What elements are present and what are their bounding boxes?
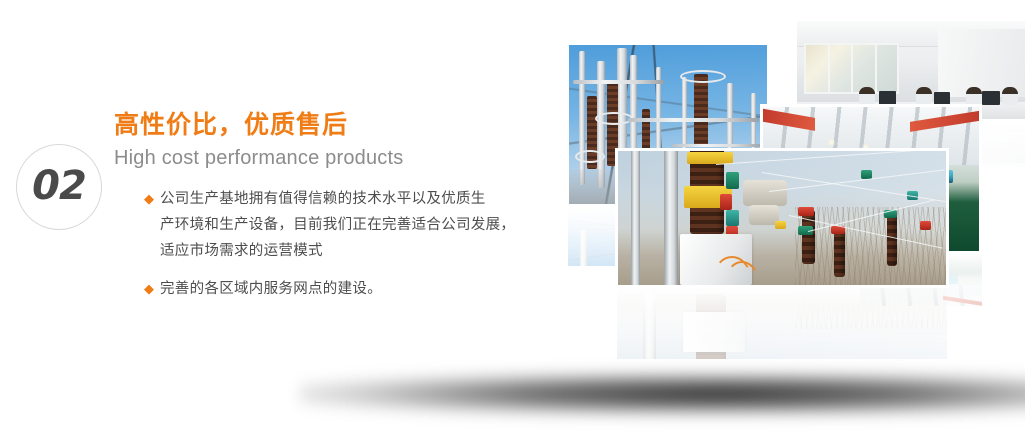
step-number-badge: 02 bbox=[16, 144, 102, 230]
bullet-item-text: 完善的各区域内服务网点的建设。 bbox=[160, 276, 382, 302]
photo-office-reflection bbox=[796, 121, 1025, 167]
photo-switchgear-closeup bbox=[615, 148, 949, 288]
photo-substation-reflection bbox=[568, 206, 768, 266]
photo-workshop bbox=[760, 104, 982, 254]
step-number-text: 02 bbox=[32, 166, 86, 206]
bullet-line: 适应市场需求的运营模式 bbox=[160, 243, 323, 259]
page-title-chinese: 高性价比，优质售后 bbox=[114, 112, 348, 140]
photo-office bbox=[794, 18, 1025, 122]
bullet-line: 公司生产基地拥有值得信赖的技术水平以及优质生 bbox=[160, 191, 486, 207]
bullet-item: ◆ 完善的各区域内服务网点的建设。 bbox=[144, 276, 564, 302]
photo-switchgear-reflection bbox=[617, 287, 947, 359]
bullet-item: ◆ 公司生产基地拥有值得信赖的技术水平以及优质生 产环境和生产设备，目前我们正在… bbox=[144, 186, 564, 264]
page-title-english: High cost performance products bbox=[114, 146, 403, 170]
ground-shadow bbox=[300, 372, 1025, 416]
bullet-item-text: 公司生产基地拥有值得信赖的技术水平以及优质生 产环境和生产设备，目前我们正在完善… bbox=[160, 186, 515, 264]
slide-canvas: 02 高性价比，优质售后 High cost performance produ… bbox=[0, 0, 1025, 431]
photo-workshop-reflection bbox=[860, 254, 982, 306]
feature-bullet-list: ◆ 公司生产基地拥有值得信赖的技术水平以及优质生 产环境和生产设备，目前我们正在… bbox=[144, 186, 564, 314]
diamond-bullet-icon: ◆ bbox=[144, 186, 154, 212]
bullet-line: 完善的各区域内服务网点的建设。 bbox=[160, 281, 382, 297]
photo-substation-overview bbox=[566, 42, 770, 207]
bullet-line: 产环境和生产设备，目前我们正在完善适合公司发展， bbox=[160, 217, 515, 233]
diamond-bullet-icon: ◆ bbox=[144, 276, 154, 302]
